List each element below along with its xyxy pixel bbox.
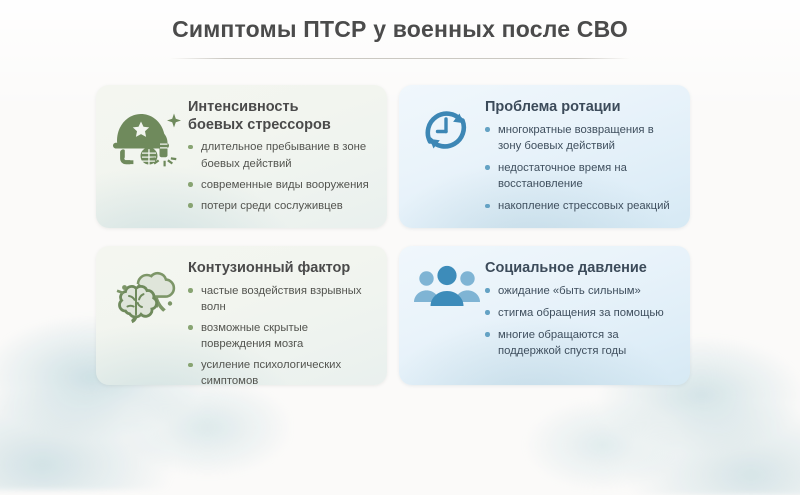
card-title: Проблема ротации: [485, 99, 678, 117]
list-item: накопление стрессовых реакций: [485, 198, 678, 214]
list-item: многократные возвращения в зону боевых д…: [485, 122, 678, 154]
card-body: Социальное давление ожидание «быть сильн…: [485, 256, 678, 365]
symptom-card-grid: Интенсивность боевых стрессоров длительн…: [96, 85, 690, 385]
card-social-pressure[interactable]: Социальное давление ожидание «быть сильн…: [399, 246, 690, 385]
card-bullet-list: многократные возвращения в зону боевых д…: [485, 122, 678, 215]
rotating-clock-icon: [409, 95, 485, 165]
list-item: современные виды вооружения: [188, 177, 375, 193]
card-bullet-list: ожидание «быть сильным» стигма обращения…: [485, 283, 678, 360]
page-title: Симптомы ПТСР у военных после СВО: [0, 16, 800, 44]
group-people-icon: [409, 256, 485, 326]
list-item: многие обращаются за поддержкой спустя г…: [485, 327, 678, 359]
list-item: длительное пребывание в зоне боевых дейс…: [188, 139, 375, 171]
card-title: Контузионный фактор: [188, 260, 375, 278]
card-title: Интенсивность боевых стрессоров: [188, 99, 375, 134]
card-combat-stressors[interactable]: Интенсивность боевых стрессоров длительн…: [96, 85, 387, 228]
card-concussion-factor[interactable]: Контузионный фактор частые воздействия в…: [96, 246, 387, 385]
list-item: усиление психологических симптомов: [188, 357, 375, 385]
list-item: возможные скрытые повреждения мозга: [188, 320, 375, 352]
list-item: ожидание «быть сильным»: [485, 283, 678, 299]
card-title: Социальное давление: [485, 260, 678, 278]
brain-blast-icon: [106, 256, 188, 336]
card-body: Контузионный фактор частые воздействия в…: [188, 256, 375, 385]
card-body: Проблема ротации многократные возвращени…: [485, 95, 678, 220]
list-item: недостаточное время на восстановление: [485, 160, 678, 192]
card-bullet-list: длительное пребывание в зоне боевых дейс…: [188, 139, 375, 214]
card-title-line-1: Интенсивность: [188, 99, 299, 115]
card-bullet-list: частые воздействия взрывных волн возможн…: [188, 283, 375, 385]
list-item: потери среди сослуживцев: [188, 198, 375, 214]
card-title-line-2: боевых стрессоров: [188, 117, 331, 133]
military-helmet-icon: [106, 95, 188, 175]
card-body: Интенсивность боевых стрессоров длительн…: [188, 95, 375, 214]
title-divider: [170, 58, 630, 59]
list-item: стигма обращения за помощью: [485, 305, 678, 321]
card-rotation-problem[interactable]: Проблема ротации многократные возвращени…: [399, 85, 690, 228]
header: Симптомы ПТСР у военных после СВО: [0, 16, 800, 44]
list-item: частые воздействия взрывных волн: [188, 283, 375, 315]
